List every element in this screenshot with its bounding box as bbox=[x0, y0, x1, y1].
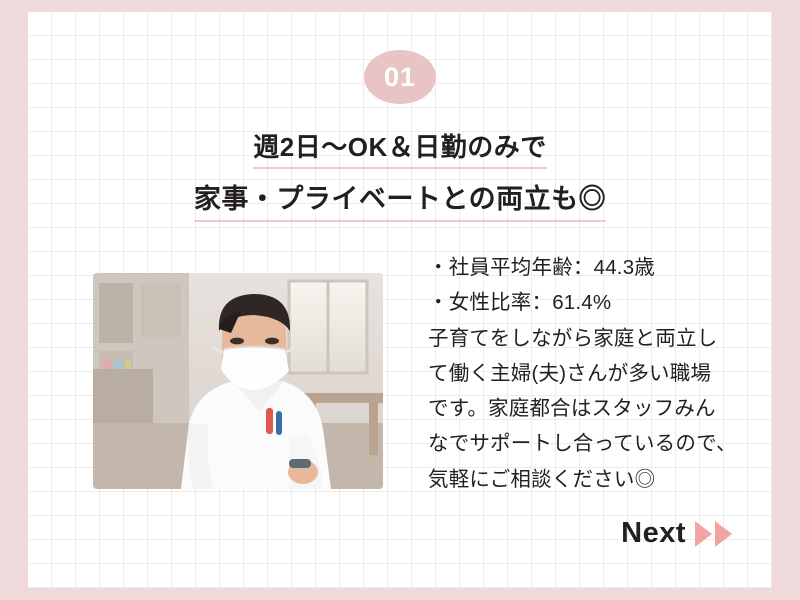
step-number-badge: 01 bbox=[364, 50, 436, 104]
staff-photo-illustration bbox=[93, 273, 383, 489]
body-line-0: ・社員平均年齢：44.3歳 bbox=[428, 250, 748, 285]
arrow-right-icon-2 bbox=[715, 521, 732, 547]
body-line-1: ・女性比率：61.4% bbox=[428, 285, 748, 320]
body-copy: ・社員平均年齢：44.3歳 ・女性比率：61.4% 子育てをしながら家庭と両立し… bbox=[428, 250, 748, 497]
body-line-5: なでサポートし合っているので、 bbox=[428, 426, 748, 461]
body-line-6: 気軽にご相談ください◎ bbox=[428, 462, 748, 497]
double-arrow-right-icon bbox=[695, 521, 732, 547]
headline-line-2: 家事・プライベートとの両立も◎ bbox=[194, 181, 606, 221]
body-line-3: て働く主婦(夫)さんが多い職場 bbox=[428, 356, 748, 391]
body-line-2: 子育てをしながら家庭と両立し bbox=[428, 321, 748, 356]
slide-card: 01 週2日〜OK＆日勤のみで 家事・プライベートとの両立も◎ bbox=[28, 12, 772, 588]
arrow-right-icon-1 bbox=[695, 521, 712, 547]
next-button[interactable]: Next bbox=[621, 517, 732, 550]
headline-line-1: 週2日〜OK＆日勤のみで bbox=[253, 130, 546, 169]
next-label: Next bbox=[621, 517, 686, 550]
body-line-4: です。家庭都合はスタッフみん bbox=[428, 391, 748, 426]
slide-frame: 01 週2日〜OK＆日勤のみで 家事・プライベートとの両立も◎ bbox=[0, 0, 800, 600]
staff-photo bbox=[93, 273, 383, 489]
headline-block: 週2日〜OK＆日勤のみで 家事・プライベートとの両立も◎ bbox=[28, 130, 772, 222]
